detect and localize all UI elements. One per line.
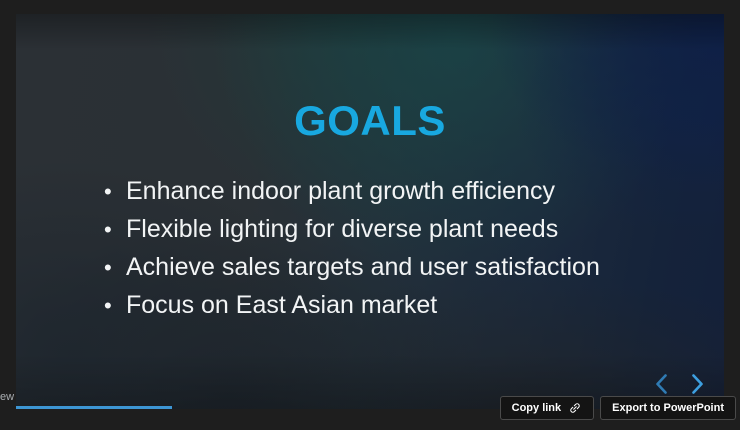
bullet-marker-icon: •	[104, 257, 126, 279]
bullet-list: • Enhance indoor plant growth efficiency…	[104, 172, 600, 324]
slide-canvas[interactable]: GOALS • Enhance indoor plant growth effi…	[16, 14, 724, 409]
presentation-viewer: GOALS • Enhance indoor plant growth effi…	[0, 0, 740, 430]
slide-navigation	[650, 369, 708, 399]
bullet-text: Enhance indoor plant growth efficiency	[126, 172, 555, 210]
next-slide-button[interactable]	[686, 369, 708, 399]
link-icon	[568, 401, 582, 415]
list-item: • Focus on East Asian market	[104, 286, 600, 324]
export-label: Export to PowerPoint	[612, 402, 724, 414]
status-label: ew	[0, 392, 14, 403]
copy-link-label: Copy link	[512, 402, 562, 414]
bullet-text: Focus on East Asian market	[126, 286, 437, 324]
export-to-powerpoint-button[interactable]: Export to PowerPoint	[600, 396, 736, 420]
bullet-marker-icon: •	[104, 219, 126, 241]
slide-title: GOALS	[16, 100, 724, 142]
list-item: • Achieve sales targets and user satisfa…	[104, 248, 600, 286]
action-buttons: Copy link Export to PowerPoint	[500, 396, 736, 420]
bullet-marker-icon: •	[104, 295, 126, 317]
bullet-text: Flexible lighting for diverse plant need…	[126, 210, 558, 248]
chevron-right-icon	[690, 372, 705, 396]
slide-content: GOALS • Enhance indoor plant growth effi…	[16, 14, 724, 409]
previous-slide-button[interactable]	[650, 369, 672, 399]
progress-fill	[16, 406, 172, 409]
list-item: • Flexible lighting for diverse plant ne…	[104, 210, 600, 248]
bullet-text: Achieve sales targets and user satisfact…	[126, 248, 600, 286]
list-item: • Enhance indoor plant growth efficiency	[104, 172, 600, 210]
bullet-marker-icon: •	[104, 181, 126, 203]
chevron-left-icon	[654, 372, 669, 396]
copy-link-button[interactable]: Copy link	[500, 396, 595, 420]
